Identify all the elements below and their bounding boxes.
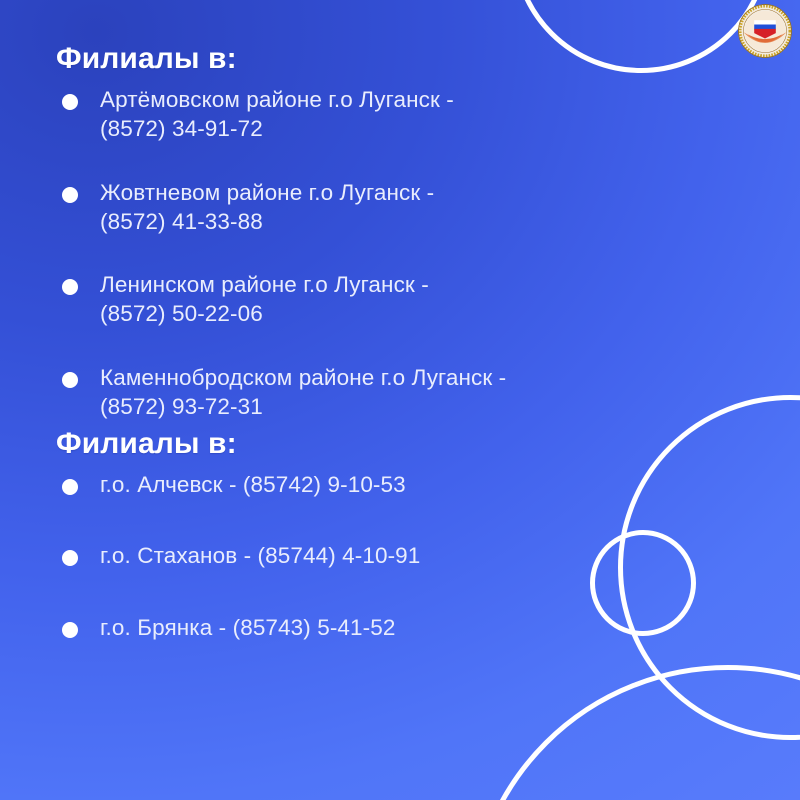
list-item: г.о. Брянка - (85743) 5-41-52 xyxy=(56,613,640,642)
branch-name: Ленинском районе г.о Луганск - xyxy=(100,270,640,299)
content-column: Филиалы в: Артёмовском районе г.о Луганс… xyxy=(0,0,640,642)
list-item: Артёмовском районе г.о Луганск - (8572) … xyxy=(56,85,640,144)
bullet-icon xyxy=(62,372,78,388)
bullet-icon xyxy=(62,550,78,566)
bullet-icon xyxy=(62,622,78,638)
list-item: Ленинском районе г.о Луганск - (8572) 50… xyxy=(56,270,640,329)
bullet-icon xyxy=(62,479,78,495)
branch-phone: (8572) 41-33-88 xyxy=(100,207,640,236)
branch-entry: г.о. Брянка - (85743) 5-41-52 xyxy=(100,613,640,642)
branch-name: Артёмовском районе г.о Луганск - xyxy=(100,85,640,114)
bullet-icon xyxy=(62,279,78,295)
branch-name: Каменнобродском районе г.о Луганск - xyxy=(100,363,640,392)
section-heading-lugansk: Филиалы в: xyxy=(56,42,640,75)
emblem-seal-icon xyxy=(738,4,792,58)
branch-entry: г.о. Стаханов - (85744) 4-10-91 xyxy=(100,541,640,570)
bullet-icon xyxy=(62,94,78,110)
decorative-circle-bottom-large xyxy=(468,665,800,800)
branch-list-cities: г.о. Алчевск - (85742) 9-10-53 г.о. Стах… xyxy=(56,470,640,642)
branch-phone: (8572) 93-72-31 xyxy=(100,392,640,421)
list-item: Каменнобродском районе г.о Луганск - (85… xyxy=(56,363,640,422)
branch-name: Жовтневом районе г.о Луганск - xyxy=(100,178,640,207)
branch-phone: (8572) 50-22-06 xyxy=(100,299,640,328)
branch-entry: г.о. Алчевск - (85742) 9-10-53 xyxy=(100,470,640,499)
list-item: Жовтневом районе г.о Луганск - (8572) 41… xyxy=(56,178,640,237)
decorative-circle-large-right xyxy=(618,395,800,740)
section-heading-cities: Филиалы в: xyxy=(56,427,640,460)
branch-phone: (8572) 34-91-72 xyxy=(100,114,640,143)
branch-list-lugansk: Артёмовском районе г.о Луганск - (8572) … xyxy=(56,85,640,421)
poster-canvas: Филиалы в: Артёмовском районе г.о Луганс… xyxy=(0,0,800,800)
bullet-icon xyxy=(62,187,78,203)
list-item: г.о. Алчевск - (85742) 9-10-53 xyxy=(56,470,640,499)
list-item: г.о. Стаханов - (85744) 4-10-91 xyxy=(56,541,640,570)
